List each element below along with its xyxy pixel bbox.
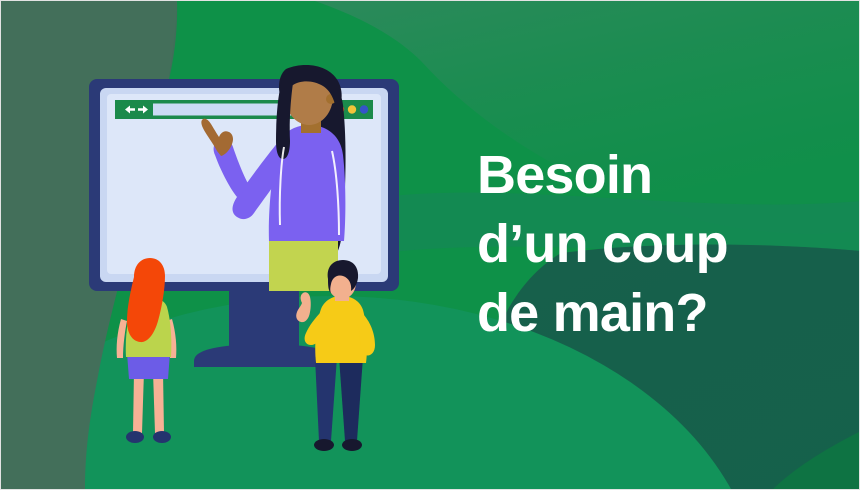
support-banner: Besoin d’un coup de main?	[0, 0, 860, 490]
boy-leg-left	[315, 357, 337, 441]
girl-shoe-right	[153, 431, 171, 443]
girl-arm-left	[117, 319, 127, 358]
window-dot-blue[interactable]	[360, 105, 368, 113]
headline-line-2: d’un coup	[477, 210, 847, 279]
headline-line-3: de main?	[477, 279, 847, 348]
window-dot-yellow[interactable]	[348, 105, 356, 113]
girl-leg-right	[153, 371, 164, 433]
boy-shoe-left	[314, 439, 334, 451]
girl-leg-left	[133, 371, 144, 433]
monitor-stand-column	[229, 286, 299, 354]
page-title: Besoin d’un coup de main?	[477, 141, 847, 348]
boy-shoe-right	[342, 439, 362, 451]
boy-leg-right	[339, 357, 363, 441]
girl-shoe-left	[126, 431, 144, 443]
headline-line-1: Besoin	[477, 141, 847, 210]
presenter-skirt	[269, 238, 338, 291]
